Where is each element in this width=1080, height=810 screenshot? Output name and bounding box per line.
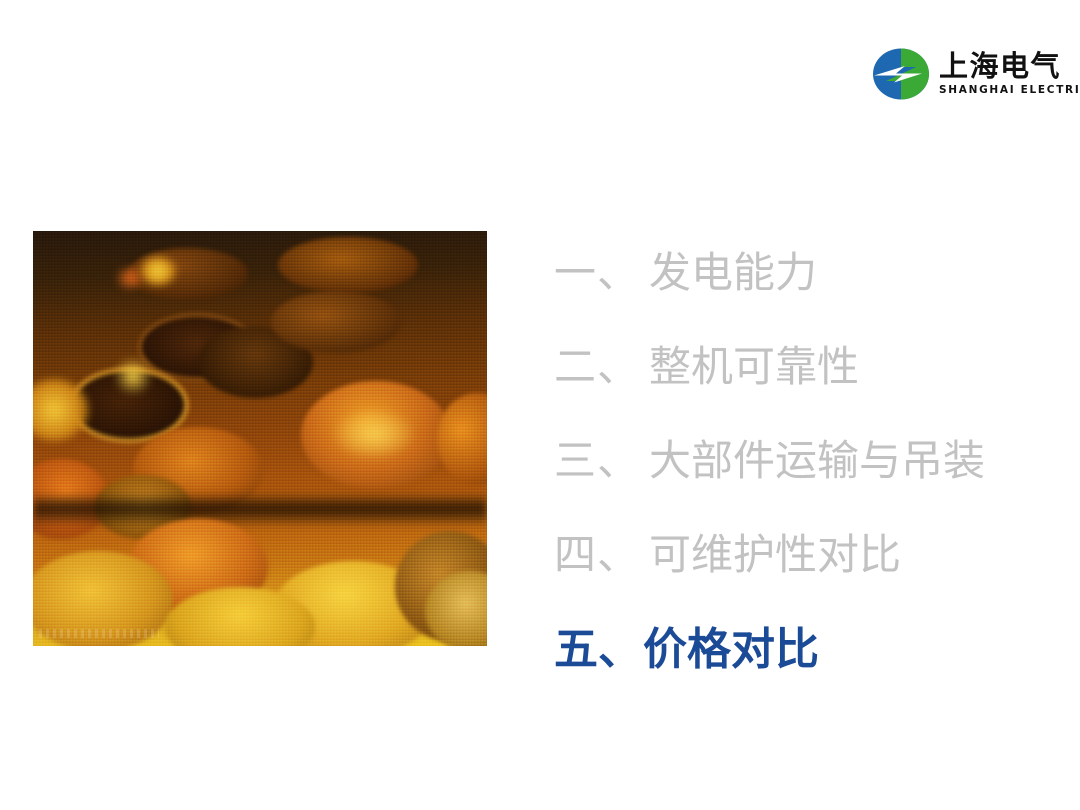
- agenda-item-5-label: 价格对比: [643, 613, 819, 677]
- agenda-item-4[interactable]: 四、 可维护性对比: [554, 504, 1054, 598]
- agenda-item-5[interactable]: 五、 价格对比: [554, 598, 1054, 692]
- brand-name-cn: 上海电气: [939, 52, 1080, 81]
- agenda-item-3-number: 三、: [554, 427, 640, 488]
- agenda-item-4-label: 可维护性对比: [649, 521, 901, 582]
- agenda-item-3-label: 大部件运输与吊装: [649, 427, 985, 488]
- agenda-item-1[interactable]: 一、 发电能力: [554, 222, 1054, 316]
- brand-text: 上海电气 SHANGHAI ELECTRIC: [939, 52, 1080, 96]
- agenda-item-3[interactable]: 三、 大部件运输与吊装: [554, 410, 1054, 504]
- agenda-item-2-label: 整机可靠性: [649, 333, 859, 394]
- agenda-item-1-label: 发电能力: [649, 239, 817, 300]
- coin-photo: [33, 231, 487, 646]
- agenda-item-4-number: 四、: [554, 521, 640, 582]
- agenda-list: 一、 发电能力 二、 整机可靠性 三、 大部件运输与吊装 四、 可维护性对比 五…: [554, 222, 1054, 692]
- photo-grain: [33, 231, 487, 646]
- agenda-item-2-number: 二、: [554, 333, 640, 394]
- brand-logo: 上海电气 SHANGHAI ELECTRIC: [872, 44, 1072, 104]
- agenda-item-1-number: 一、: [554, 239, 640, 300]
- shanghai-electric-emblem-icon: [872, 47, 930, 101]
- photo-watermark: [39, 629, 159, 638]
- brand-name-en: SHANGHAI ELECTRIC: [939, 85, 1080, 96]
- slide-canvas: 上海电气 SHANGHAI ELECTRIC: [0, 0, 1080, 810]
- agenda-item-5-number: 五、: [554, 613, 642, 677]
- agenda-item-2[interactable]: 二、 整机可靠性: [554, 316, 1054, 410]
